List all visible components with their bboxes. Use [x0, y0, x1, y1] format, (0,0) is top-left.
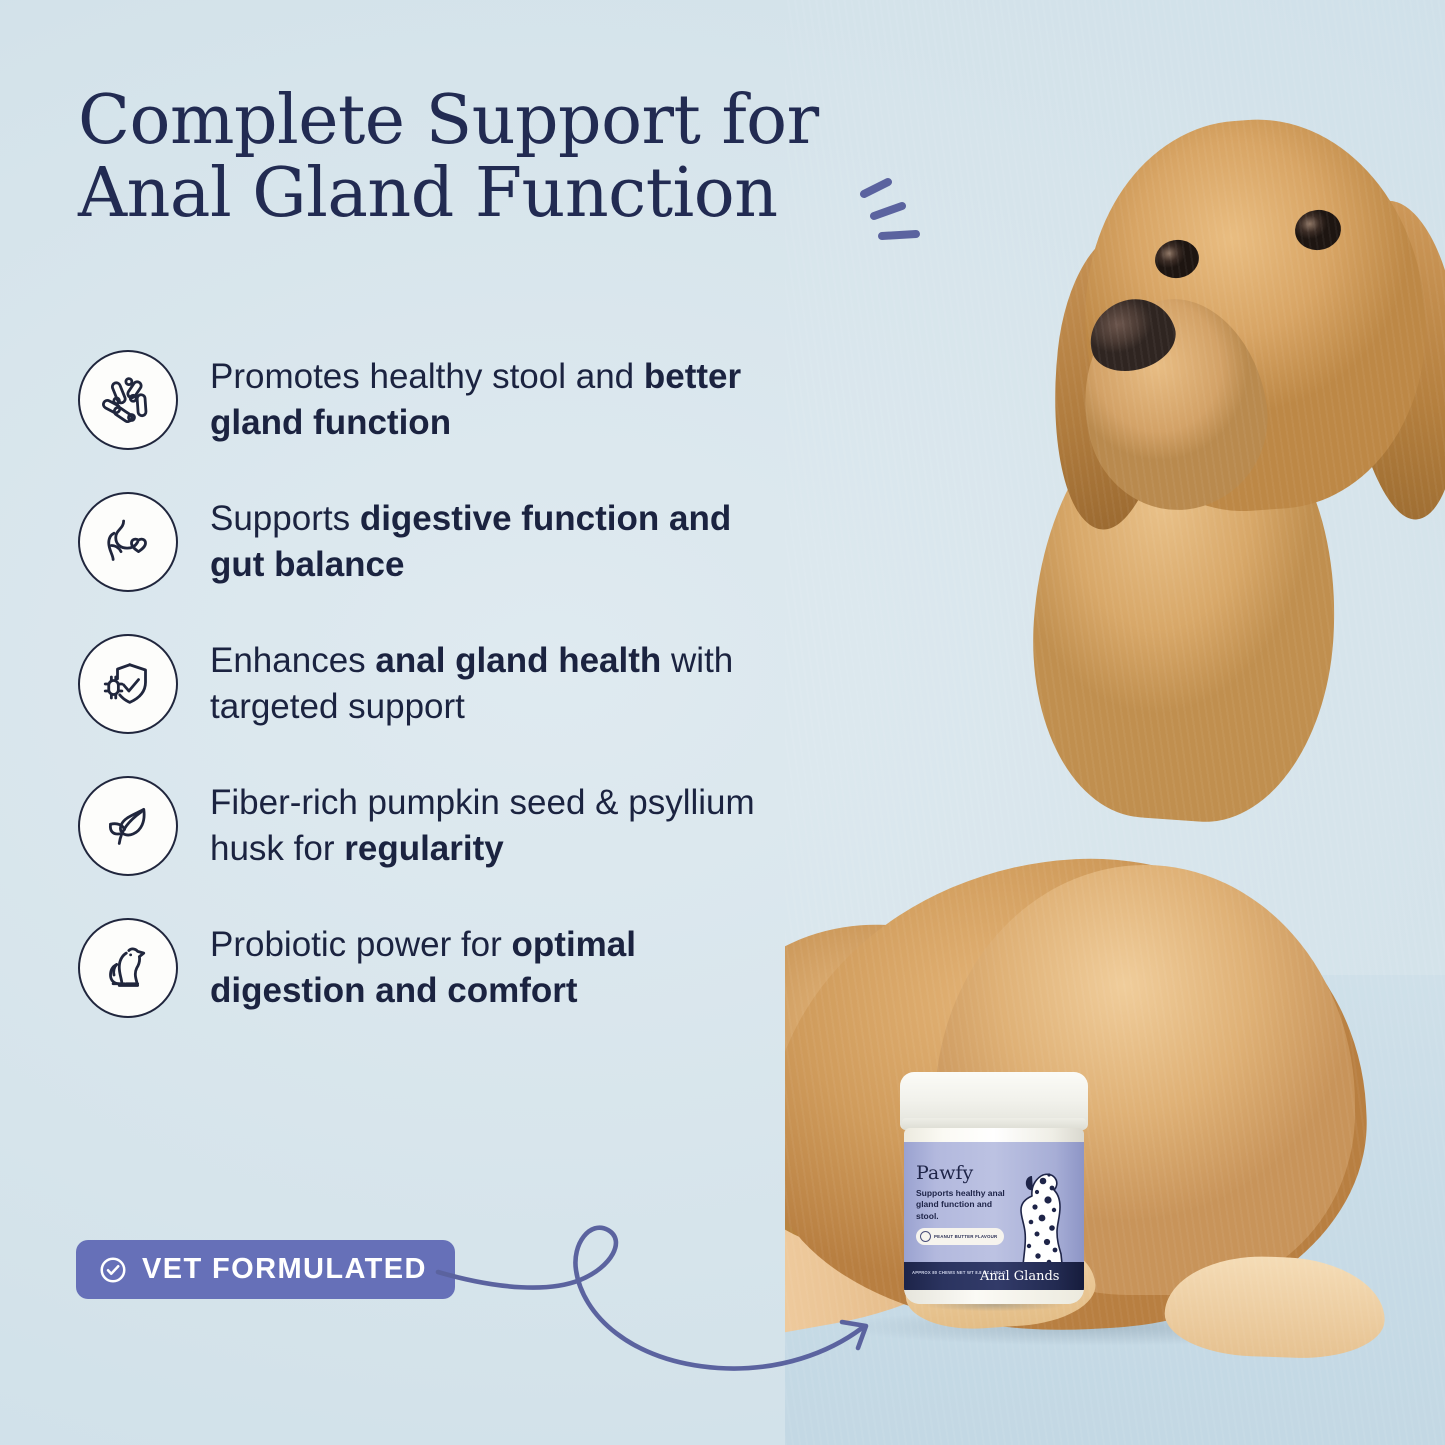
feature-item: Enhances anal gland health with targeted…: [78, 632, 778, 734]
headline: Complete Support for Anal Gland Function: [78, 84, 938, 231]
flavour-icon: [920, 1231, 931, 1242]
feature-item: Fiber-rich pumpkin seed & psyllium husk …: [78, 774, 778, 876]
sitting-dog-icon: [78, 918, 178, 1018]
sparkle-icon: [852, 168, 928, 248]
badge-label: VET FORMULATED: [142, 1253, 427, 1286]
product-marketing-image: Complete Support for Anal Gland Function: [0, 0, 1445, 1445]
bacteria-icon: [78, 350, 178, 450]
jar-lid: [900, 1072, 1088, 1130]
headline-line-1: Complete Support for: [78, 84, 938, 157]
jar-flavour-pill: PEANUT BUTTER FLAVOUR: [916, 1228, 1004, 1245]
feature-text-regular: Enhances: [210, 641, 375, 680]
feature-text-regular: Promotes healthy stool and: [210, 357, 644, 396]
jar-label: Pawfy Supports healthy anal gland functi…: [904, 1142, 1084, 1262]
jar-category-name: Anal Glands: [980, 1269, 1059, 1284]
feature-text: Fiber-rich pumpkin seed & psyllium husk …: [210, 774, 770, 871]
curved-arrow-icon: [430, 1222, 910, 1392]
jar-body: Pawfy Supports healthy anal gland functi…: [904, 1128, 1084, 1304]
feature-text-regular: Probiotic power for: [210, 925, 512, 964]
jar-brand-name: Pawfy: [916, 1162, 973, 1184]
vet-formulated-badge[interactable]: VET FORMULATED: [76, 1240, 455, 1299]
feature-list: Promotes healthy stool and better gland …: [78, 348, 778, 1058]
feature-text-bold: regularity: [344, 829, 504, 868]
jar-flavour-text: PEANUT BUTTER FLAVOUR: [934, 1234, 997, 1240]
jar-category-band: APPROX 80 CHEWS NET WT 8.8 OZ / 250 G An…: [904, 1262, 1084, 1290]
feature-item: Promotes healthy stool and better gland …: [78, 348, 778, 450]
jar-bottom: [904, 1290, 1084, 1304]
feature-item: Supports digestive function and gut bala…: [78, 490, 778, 592]
jar-description: Supports healthy anal gland function and…: [916, 1188, 1012, 1222]
feature-text-bold: anal gland health: [375, 641, 661, 680]
shield-check-germ-icon: [78, 634, 178, 734]
product-jar: Pawfy Supports healthy anal gland functi…: [900, 1072, 1088, 1304]
feature-text: Promotes healthy stool and better gland …: [210, 348, 770, 445]
feature-text: Probiotic power for optimal digestion an…: [210, 916, 770, 1013]
feature-text-regular: Supports: [210, 499, 360, 538]
dalmatian-icon: [1002, 1162, 1076, 1274]
feature-text: Enhances anal gland health with targeted…: [210, 632, 770, 729]
feature-item: Probiotic power for optimal digestion an…: [78, 916, 778, 1018]
feature-text: Supports digestive function and gut bala…: [210, 490, 770, 587]
check-circle-icon: [98, 1255, 128, 1285]
headline-line-2: Anal Gland Function: [78, 157, 778, 230]
leaf-sprout-icon: [78, 776, 178, 876]
stomach-heart-icon: [78, 492, 178, 592]
